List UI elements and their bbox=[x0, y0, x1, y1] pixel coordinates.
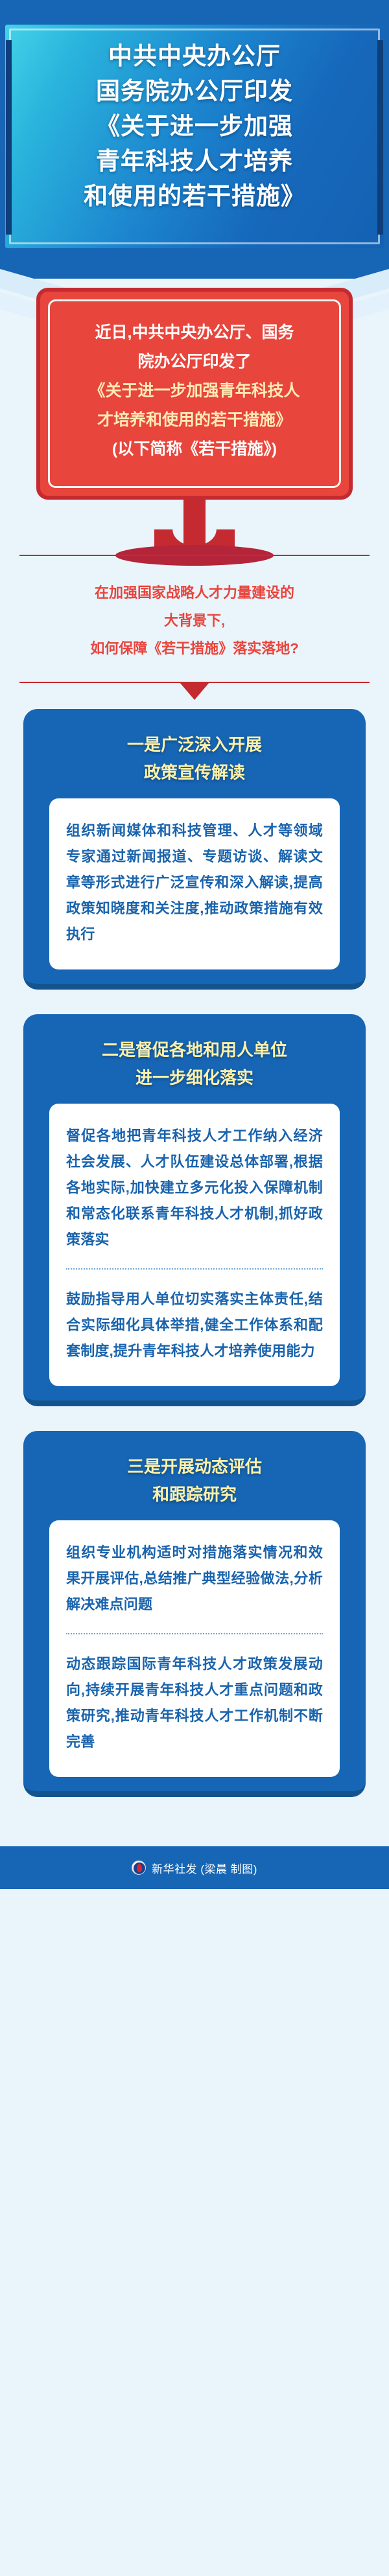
section-3-title-line-2: 和跟踪研究 bbox=[23, 1481, 366, 1509]
intro-line-1: 近日,中共中央办公厅、国务 bbox=[62, 318, 327, 347]
section-3-body: 组织专业机构适时对措施落实情况和效果开展评估,总结推广典型经验做法,分析解决难点… bbox=[49, 1520, 340, 1777]
section-3-dotted-divider bbox=[66, 1633, 323, 1634]
section-card-1: 一是广泛深入开展 政策宣传解读 组织新闻媒体和科技管理、人才等领域专家通过新闻报… bbox=[23, 709, 366, 990]
section-2-paragraph-1: 督促各地把青年科技人才工作纳入经济社会发展、人才队伍建设总体部署,根据各地实际,… bbox=[66, 1123, 323, 1253]
question-line-2: 大背景下, bbox=[0, 607, 389, 634]
intro-document-title-line-2: 才培养和使用的若干措施》 bbox=[62, 406, 327, 435]
section-1-paragraph-1: 组织新闻媒体和科技管理、人才等领域专家通过新闻报道、专题访谈、解读文章等形式进行… bbox=[66, 818, 323, 947]
section-2-title: 二是督促各地和用人单位 进一步细化落实 bbox=[23, 1036, 366, 1104]
intro-short-name: (以下简称《若干措施》) bbox=[62, 435, 327, 464]
section-1-title: 一是广泛深入开展 政策宣传解读 bbox=[23, 731, 366, 798]
page-title-line-4: 青年科技人才培养 bbox=[0, 144, 389, 179]
intro-document-title-line-1: 《关于进一步加强青年科技人 bbox=[62, 377, 327, 406]
section-card-2: 二是督促各地和用人单位 进一步细化落实 督促各地把青年科技人才工作纳入经济社会发… bbox=[23, 1014, 366, 1406]
hero-top-bar bbox=[0, 0, 389, 25]
question-block: 在加强国家战略人才力量建设的 大背景下, 如何保障《若干措施》落实落地? bbox=[0, 576, 389, 675]
hero-bottom-band bbox=[0, 248, 389, 279]
footer-spacer bbox=[0, 1822, 389, 1846]
section-1-title-line-1: 一是广泛深入开展 bbox=[23, 731, 366, 759]
page-title: 中共中央办公厅 国务院办公厅印发 《关于进一步加强 青年科技人才培养 和使用的若… bbox=[0, 39, 389, 214]
section-3-title-line-1: 三是开展动态评估 bbox=[23, 1453, 366, 1481]
pedestal-rule bbox=[19, 555, 370, 556]
footer-credit: 新华社发 (梁晨 制图) bbox=[152, 1860, 257, 1876]
section-1-title-line-2: 政策宣传解读 bbox=[23, 759, 366, 787]
section-3-title: 三是开展动态评估 和跟踪研究 bbox=[23, 1453, 366, 1520]
page-title-line-2: 国务院办公厅印发 bbox=[0, 74, 389, 109]
xinhua-logo-icon bbox=[132, 1861, 146, 1875]
section-2-paragraph-2: 鼓励指导用人单位切实落实主体责任,结合实际细化具体举措,健全工作体系和配套制度,… bbox=[66, 1286, 323, 1364]
intro-callout-wrapper: 近日,中共中央办公厅、国务 院办公厅印发了 《关于进一步加强青年科技人 才培养和… bbox=[0, 279, 389, 500]
question-line-3: 如何保障《若干措施》落实落地? bbox=[0, 634, 389, 662]
footer-bar: 新华社发 (梁晨 制图) bbox=[0, 1846, 389, 1889]
section-2-dotted-divider bbox=[66, 1268, 323, 1270]
section-3-paragraph-2: 动态跟踪国际青年科技人才政策发展动向,持续开展青年科技人才重点问题和政策研究,推… bbox=[66, 1651, 323, 1755]
section-2-title-line-2: 进一步细化落实 bbox=[23, 1064, 366, 1092]
section-1-body: 组织新闻媒体和科技管理、人才等领域专家通过新闻报道、专题访谈、解读文章等形式进行… bbox=[49, 798, 340, 969]
section-2-title-line-1: 二是督促各地和用人单位 bbox=[23, 1036, 366, 1064]
chevron-down-icon bbox=[180, 682, 209, 700]
intro-line-2: 院办公厅印发了 bbox=[62, 347, 327, 377]
page-title-line-3: 《关于进一步加强 bbox=[0, 109, 389, 144]
page-title-line-5: 和使用的若干措施》 bbox=[0, 179, 389, 214]
intro-callout-card: 近日,中共中央办公厅、国务 院办公厅印发了 《关于进一步加强青年科技人 才培养和… bbox=[36, 288, 353, 500]
section-2-body: 督促各地把青年科技人才工作纳入经济社会发展、人才队伍建设总体部署,根据各地实际,… bbox=[49, 1104, 340, 1386]
section-3-paragraph-1: 组织专业机构适时对措施落实情况和效果开展评估,总结推广典型经验做法,分析解决难点… bbox=[66, 1540, 323, 1618]
question-divider bbox=[0, 675, 389, 709]
section-card-3: 三是开展动态评估 和跟踪研究 组织专业机构适时对措施落实情况和效果开展评估,总结… bbox=[23, 1431, 366, 1797]
question-line-1: 在加强国家战略人才力量建设的 bbox=[0, 579, 389, 607]
page-title-line-1: 中共中央办公厅 bbox=[0, 39, 389, 74]
infographic-page: 中共中央办公厅 国务院办公厅印发 《关于进一步加强 青年科技人才培养 和使用的若… bbox=[0, 0, 389, 2576]
intro-callout-inner: 近日,中共中央办公厅、国务 院办公厅印发了 《关于进一步加强青年科技人 才培养和… bbox=[48, 299, 341, 488]
hero-banner: 中共中央办公厅 国务院办公厅印发 《关于进一步加强 青年科技人才培养 和使用的若… bbox=[0, 0, 389, 279]
pedestal-decoration bbox=[0, 500, 389, 576]
